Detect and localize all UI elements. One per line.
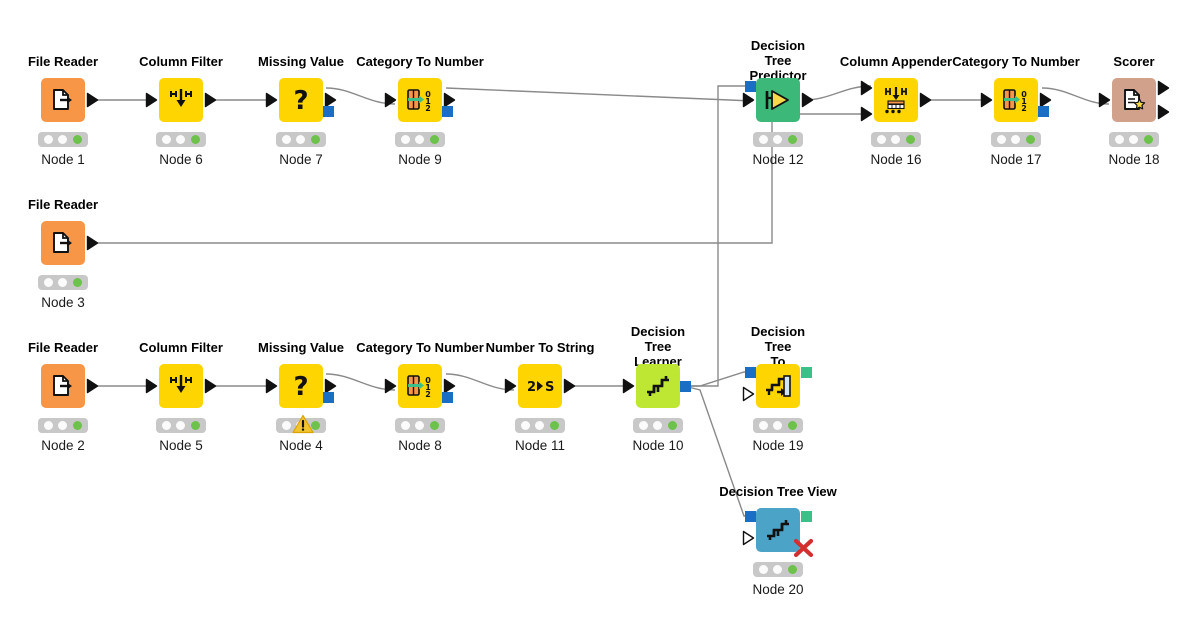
node-output-port-triangle[interactable] xyxy=(801,92,814,113)
node-body[interactable] xyxy=(159,364,203,408)
node-status-bar xyxy=(156,132,206,147)
column-filter-icon xyxy=(168,87,194,113)
node-title: Number To String xyxy=(486,340,595,355)
node-label: Node 11 xyxy=(515,438,565,453)
node-title: File Reader xyxy=(28,197,98,212)
node-body[interactable]: 2 S xyxy=(518,364,562,408)
node-input-port-triangle[interactable] xyxy=(622,378,635,399)
svg-text:S: S xyxy=(545,380,554,395)
node-body[interactable] xyxy=(1112,78,1156,122)
node-input-port-model[interactable] xyxy=(745,511,756,522)
status-led-3 xyxy=(73,421,82,430)
status-led-1 xyxy=(997,135,1006,144)
status-led-1 xyxy=(521,421,530,430)
node-status-bar xyxy=(515,418,565,433)
node-output-port-model[interactable] xyxy=(442,106,453,117)
status-led-1 xyxy=(282,135,291,144)
status-led-2 xyxy=(58,278,67,287)
node-input-port-triangle[interactable] xyxy=(742,92,755,113)
decision-tree-to-image-icon xyxy=(764,374,792,398)
node-body[interactable] xyxy=(636,364,680,408)
node-label: Node 4 xyxy=(279,438,323,453)
status-led-1 xyxy=(759,135,768,144)
node-title: Column Appender xyxy=(840,54,952,69)
question-mark-icon: ? xyxy=(288,86,314,114)
wire-node10-node19 xyxy=(684,372,753,386)
node-label: Node 8 xyxy=(398,438,442,453)
node-label: Node 20 xyxy=(752,582,803,597)
status-led-2 xyxy=(1011,135,1020,144)
status-led-1 xyxy=(401,421,410,430)
category-to-number-icon: 0 1 2 xyxy=(405,87,435,113)
node-label: Node 10 xyxy=(632,438,683,453)
node-title: Column Filter xyxy=(139,340,223,355)
status-led-1 xyxy=(759,565,768,574)
node-input-port-triangle[interactable] xyxy=(504,378,517,399)
status-led-3 xyxy=(1026,135,1035,144)
node-body[interactable] xyxy=(41,364,85,408)
status-led-1 xyxy=(1115,135,1124,144)
status-led-1 xyxy=(877,135,886,144)
status-led-1 xyxy=(44,135,53,144)
node-label: Node 9 xyxy=(398,152,442,167)
node-body[interactable] xyxy=(874,78,918,122)
scorer-icon xyxy=(1121,87,1147,113)
node-body[interactable] xyxy=(41,78,85,122)
node-output-port-triangle[interactable] xyxy=(204,378,217,399)
node-status-bar xyxy=(38,132,88,147)
status-led-3 xyxy=(73,278,82,287)
node-label: Node 7 xyxy=(279,152,323,167)
status-led-3 xyxy=(550,421,559,430)
play-arrow-icon xyxy=(764,87,792,113)
node-label: Node 3 xyxy=(41,295,85,310)
status-led-1 xyxy=(759,421,768,430)
status-led-1 xyxy=(44,278,53,287)
node-input-port-triangle[interactable] xyxy=(265,378,278,399)
node-label: Node 17 xyxy=(990,152,1041,167)
node-label: Node 19 xyxy=(752,438,803,453)
node-input-port-hollow-triangle[interactable] xyxy=(742,386,755,407)
node-input-port-triangle[interactable] xyxy=(384,378,397,399)
status-led-2 xyxy=(58,421,67,430)
status-led-3 xyxy=(73,135,82,144)
file-reader-icon xyxy=(50,230,76,256)
node-input-port-hollow-triangle[interactable] xyxy=(742,530,755,551)
node-label: Node 6 xyxy=(159,152,203,167)
status-led-2 xyxy=(535,421,544,430)
node-status-bar xyxy=(156,418,206,433)
node-output-port-triangle[interactable] xyxy=(86,235,99,256)
node-status-bar xyxy=(753,132,803,147)
svg-text:2: 2 xyxy=(1021,104,1027,113)
status-led-2 xyxy=(773,565,782,574)
node-label: Node 5 xyxy=(159,438,203,453)
warning-icon[interactable] xyxy=(292,414,314,434)
svg-text:?: ? xyxy=(293,86,308,114)
category-to-number-icon: 0 1 2 xyxy=(405,373,435,399)
node-input-port-triangle-2[interactable] xyxy=(860,106,873,127)
node-input-port-model[interactable] xyxy=(745,367,756,378)
node-status-bar xyxy=(395,132,445,147)
status-led-1 xyxy=(282,421,291,430)
status-led-3 xyxy=(668,421,677,430)
status-led-3 xyxy=(788,421,797,430)
status-led-3 xyxy=(1144,135,1153,144)
number-to-string-icon: 2 S xyxy=(523,376,557,396)
status-led-2 xyxy=(891,135,900,144)
node-output-port-image[interactable] xyxy=(801,511,812,522)
node-title: File Reader xyxy=(28,340,98,355)
node-output-port-triangle[interactable] xyxy=(1157,80,1170,101)
svg-text:2: 2 xyxy=(527,380,536,395)
status-led-3 xyxy=(788,135,797,144)
node-status-bar xyxy=(991,132,1041,147)
node-input-port-triangle[interactable] xyxy=(265,92,278,113)
node-body[interactable]: 0 1 2 xyxy=(398,78,442,122)
node-output-port-model[interactable] xyxy=(323,392,334,403)
status-led-3 xyxy=(906,135,915,144)
node-status-bar xyxy=(871,132,921,147)
node-output-port-image[interactable] xyxy=(801,367,812,378)
status-led-2 xyxy=(176,421,185,430)
node-status-bar xyxy=(633,418,683,433)
node-status-bar xyxy=(753,562,803,577)
column-appender-icon xyxy=(882,86,910,114)
node-title: Column Filter xyxy=(139,54,223,69)
node-title: Category To Number xyxy=(356,340,484,355)
status-led-2 xyxy=(773,421,782,430)
node-input-port-model[interactable] xyxy=(745,81,756,92)
node-input-port-triangle[interactable] xyxy=(145,92,158,113)
node-label: Node 12 xyxy=(752,152,803,167)
status-led-3 xyxy=(191,421,200,430)
node-label: Node 16 xyxy=(870,152,921,167)
node-title: Missing Value xyxy=(258,340,344,355)
file-reader-icon xyxy=(50,373,76,399)
node-body[interactable]: 0 1 2 xyxy=(994,78,1038,122)
node-label: Node 18 xyxy=(1108,152,1159,167)
node-input-port-triangle[interactable] xyxy=(1098,92,1111,113)
node-input-port-triangle[interactable] xyxy=(145,378,158,399)
question-mark-icon: ? xyxy=(288,372,314,400)
node-title: File Reader xyxy=(28,54,98,69)
node-status-bar xyxy=(38,418,88,433)
status-led-3 xyxy=(788,565,797,574)
node-body[interactable] xyxy=(159,78,203,122)
node-output-port-triangle[interactable] xyxy=(919,92,932,113)
status-led-1 xyxy=(44,421,53,430)
status-led-2 xyxy=(773,135,782,144)
node-output-port-model[interactable] xyxy=(1038,106,1049,117)
node-body[interactable]: 0 1 2 xyxy=(398,364,442,408)
decision-tree-icon xyxy=(644,374,672,398)
node-label: Node 1 xyxy=(41,152,85,167)
status-led-3 xyxy=(430,421,439,430)
status-led-2 xyxy=(415,421,424,430)
node-output-port-model[interactable] xyxy=(680,381,691,392)
node-title: Category To Number xyxy=(356,54,484,69)
node-body[interactable] xyxy=(41,221,85,265)
node-input-port-triangle[interactable] xyxy=(384,92,397,113)
node-output-port-model[interactable] xyxy=(323,106,334,117)
status-led-2 xyxy=(653,421,662,430)
status-led-2 xyxy=(58,135,67,144)
status-led-3 xyxy=(430,135,439,144)
node-input-port-triangle[interactable] xyxy=(980,92,993,113)
node-output-port-triangle-2[interactable] xyxy=(1157,104,1170,125)
node-status-bar xyxy=(753,418,803,433)
node-output-port-triangle[interactable] xyxy=(86,378,99,399)
node-label: Node 2 xyxy=(41,438,85,453)
node-status-bar xyxy=(1109,132,1159,147)
svg-text:?: ? xyxy=(293,372,308,400)
node-body[interactable] xyxy=(756,364,800,408)
node-output-port-triangle[interactable] xyxy=(204,92,217,113)
status-led-2 xyxy=(1129,135,1138,144)
node-output-port-model[interactable] xyxy=(442,392,453,403)
file-reader-icon xyxy=(50,87,76,113)
wire-node9-node12 xyxy=(446,88,753,101)
category-to-number-icon: 0 1 2 xyxy=(1001,87,1031,113)
svg-text:2: 2 xyxy=(425,390,431,399)
node-title: Category To Number xyxy=(952,54,1080,69)
node-title: Decision Tree Learner xyxy=(631,324,685,369)
node-input-port-triangle[interactable] xyxy=(860,80,873,101)
node-title: Decision Tree View xyxy=(719,484,837,499)
status-led-1 xyxy=(401,135,410,144)
node-status-bar xyxy=(395,418,445,433)
node-body[interactable]: ? xyxy=(279,78,323,122)
node-title: Decision Tree Predictor xyxy=(749,38,806,83)
node-body[interactable]: ? xyxy=(279,364,323,408)
workflow-canvas[interactable]: File Reader Node 1Column Filter Node 6Mi… xyxy=(0,0,1200,630)
status-led-3 xyxy=(311,135,320,144)
svg-text:2: 2 xyxy=(425,104,431,113)
error-x-icon[interactable] xyxy=(792,536,816,560)
node-title: Missing Value xyxy=(258,54,344,69)
node-output-port-triangle[interactable] xyxy=(563,378,576,399)
node-output-port-triangle[interactable] xyxy=(86,92,99,113)
node-status-bar xyxy=(276,132,326,147)
status-led-2 xyxy=(415,135,424,144)
status-led-2 xyxy=(296,135,305,144)
status-led-2 xyxy=(176,135,185,144)
decision-tree-icon xyxy=(764,518,792,542)
node-title: Scorer xyxy=(1113,54,1154,69)
status-led-1 xyxy=(639,421,648,430)
node-status-bar xyxy=(38,275,88,290)
wire-node10-node12 xyxy=(684,86,753,386)
column-filter-icon xyxy=(168,373,194,399)
status-led-1 xyxy=(162,135,171,144)
status-led-1 xyxy=(162,421,171,430)
status-led-3 xyxy=(191,135,200,144)
node-body[interactable] xyxy=(756,78,800,122)
